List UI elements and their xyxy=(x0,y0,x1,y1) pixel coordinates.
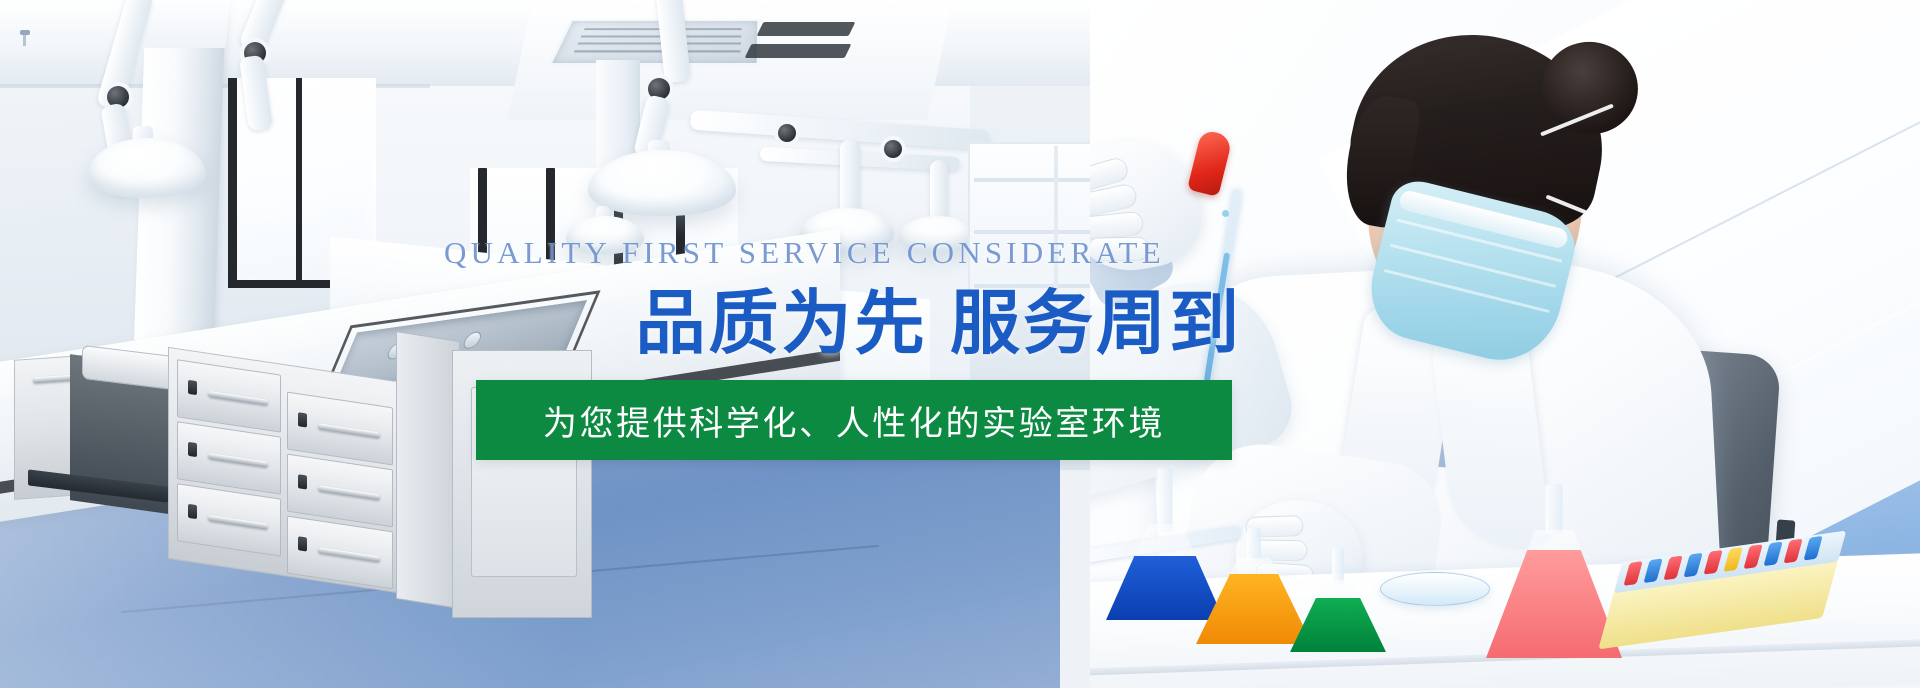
subtitle-green-bar: 为您提供科学化、人性化的实验室环境 xyxy=(476,380,1232,460)
drawer-cabinet xyxy=(168,347,398,593)
subtitle-text: 为您提供科学化、人性化的实验室环境 xyxy=(543,396,1165,445)
erlenmeyer-flask-pink xyxy=(1486,484,1622,658)
ceiling-ac-vent-icon xyxy=(548,19,760,65)
hero-banner: QUALITY FIRST SERVICE CONSIDERATE 品质为先 服… xyxy=(0,0,1920,688)
arm-joint-icon xyxy=(778,124,796,142)
cabinet-side-panel xyxy=(396,331,460,609)
banner-text-block: QUALITY FIRST SERVICE CONSIDERATE 品质为先 服… xyxy=(440,236,1260,364)
sprinkler-head-icon xyxy=(18,30,32,46)
arm-joint-icon xyxy=(884,140,902,158)
pipette-bulb xyxy=(1187,129,1233,197)
ceiling-air-slot xyxy=(757,22,856,36)
english-tagline: QUALITY FIRST SERVICE CONSIDERATE xyxy=(440,236,1260,270)
erlenmeyer-flask-green xyxy=(1290,548,1386,652)
page-title: 品质为先 服务周到 xyxy=(440,284,1260,364)
pipette-droplet xyxy=(1222,210,1229,217)
extraction-arm xyxy=(930,160,948,222)
extraction-arm xyxy=(840,140,860,214)
petri-dish xyxy=(1380,572,1490,606)
ceiling-air-slot xyxy=(745,44,852,58)
